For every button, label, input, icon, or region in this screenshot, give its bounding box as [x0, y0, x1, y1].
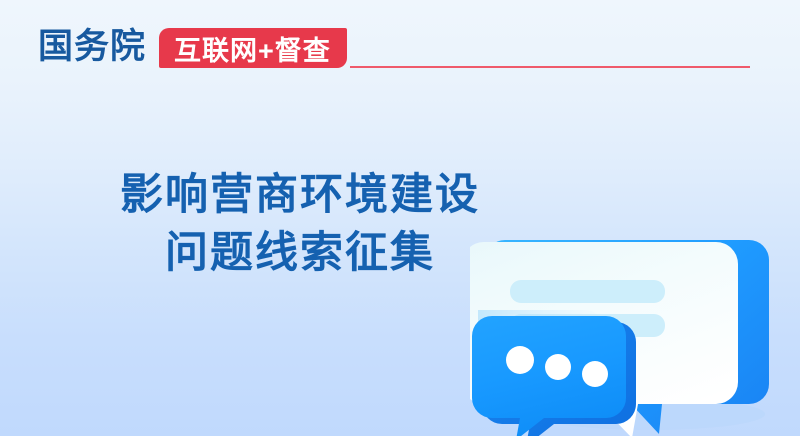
status-badge-label: 互联网+督查 [174, 29, 331, 68]
page-title-line-1: 影响营商环境建设 [0, 166, 600, 224]
header-divider [350, 66, 750, 68]
banner: 国务院 互联网+督查 影响营商环境建设 问题线索征集 [0, 0, 800, 436]
small-bubble-dot-3 [582, 361, 608, 387]
banner-header: 国务院 互联网+督查 [0, 0, 800, 90]
large-bubble-text-line-1 [510, 280, 665, 303]
small-bubble-dot-2 [545, 354, 571, 380]
small-bubble-dot-1 [506, 346, 534, 374]
chat-bubbles-svg [470, 218, 770, 436]
status-badge: 互联网+督查 [159, 28, 347, 68]
organization-name: 国务院 [38, 26, 146, 68]
chat-bubbles-illustration [470, 218, 770, 436]
small-chat-bubble [472, 316, 636, 436]
